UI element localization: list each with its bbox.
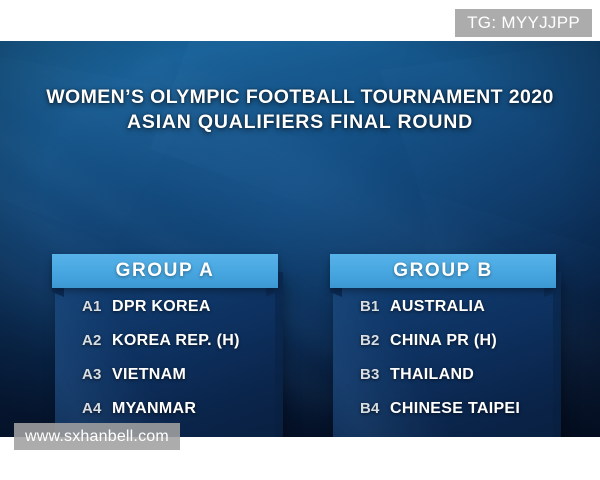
screenshot-root: WOMEN’S OLYMPIC FOOTBALL TOURNAMENT 2020… bbox=[0, 0, 600, 480]
team-name: VIETNAM bbox=[112, 366, 186, 384]
team-code: B4 bbox=[360, 400, 390, 417]
team-code: A3 bbox=[82, 366, 112, 383]
broadcast-graphic: WOMEN’S OLYMPIC FOOTBALL TOURNAMENT 2020… bbox=[0, 41, 600, 437]
graphic-title: WOMEN’S OLYMPIC FOOTBALL TOURNAMENT 2020… bbox=[0, 85, 600, 135]
team-code: A4 bbox=[82, 400, 112, 417]
team-row: A3 VIETNAM bbox=[55, 366, 275, 400]
team-name: AUSTRALIA bbox=[390, 298, 485, 316]
team-name: CHINA PR (H) bbox=[390, 332, 497, 350]
team-name: DPR KOREA bbox=[112, 298, 211, 316]
telegram-watermark: TG: MYYJJPP bbox=[455, 9, 592, 37]
title-line-2: ASIAN QUALIFIERS FINAL ROUND bbox=[0, 110, 600, 135]
team-row: A2 KOREA REP. (H) bbox=[55, 332, 275, 366]
team-row: B1 AUSTRALIA bbox=[333, 298, 553, 332]
group-b-header-label: GROUP B bbox=[393, 260, 493, 282]
team-row: A4 MYANMAR bbox=[55, 400, 275, 434]
team-code: B3 bbox=[360, 366, 390, 383]
team-name: KOREA REP. (H) bbox=[112, 332, 240, 350]
group-a-header: GROUP A bbox=[52, 254, 278, 288]
team-name: THAILAND bbox=[390, 366, 474, 384]
team-name: MYANMAR bbox=[112, 400, 196, 418]
team-code: A1 bbox=[82, 298, 112, 315]
group-b-header: GROUP B bbox=[330, 254, 556, 288]
group-a-header-label: GROUP A bbox=[116, 260, 215, 282]
background-facet bbox=[0, 51, 200, 241]
team-row: B4 CHINESE TAIPEI bbox=[333, 400, 553, 434]
team-code: B2 bbox=[360, 332, 390, 349]
group-a-team-list: A1 DPR KOREA A2 KOREA REP. (H) A3 VIETNA… bbox=[55, 298, 275, 434]
team-code: B1 bbox=[360, 298, 390, 315]
team-row: B2 CHINA PR (H) bbox=[333, 332, 553, 366]
group-b-team-list: B1 AUSTRALIA B2 CHINA PR (H) B3 THAILAND… bbox=[333, 298, 553, 434]
team-row: A1 DPR KOREA bbox=[55, 298, 275, 332]
team-row: B3 THAILAND bbox=[333, 366, 553, 400]
team-name: CHINESE TAIPEI bbox=[390, 400, 520, 418]
team-code: A2 bbox=[82, 332, 112, 349]
title-line-1: WOMEN’S OLYMPIC FOOTBALL TOURNAMENT 2020 bbox=[0, 85, 600, 110]
background-facet bbox=[380, 41, 600, 251]
